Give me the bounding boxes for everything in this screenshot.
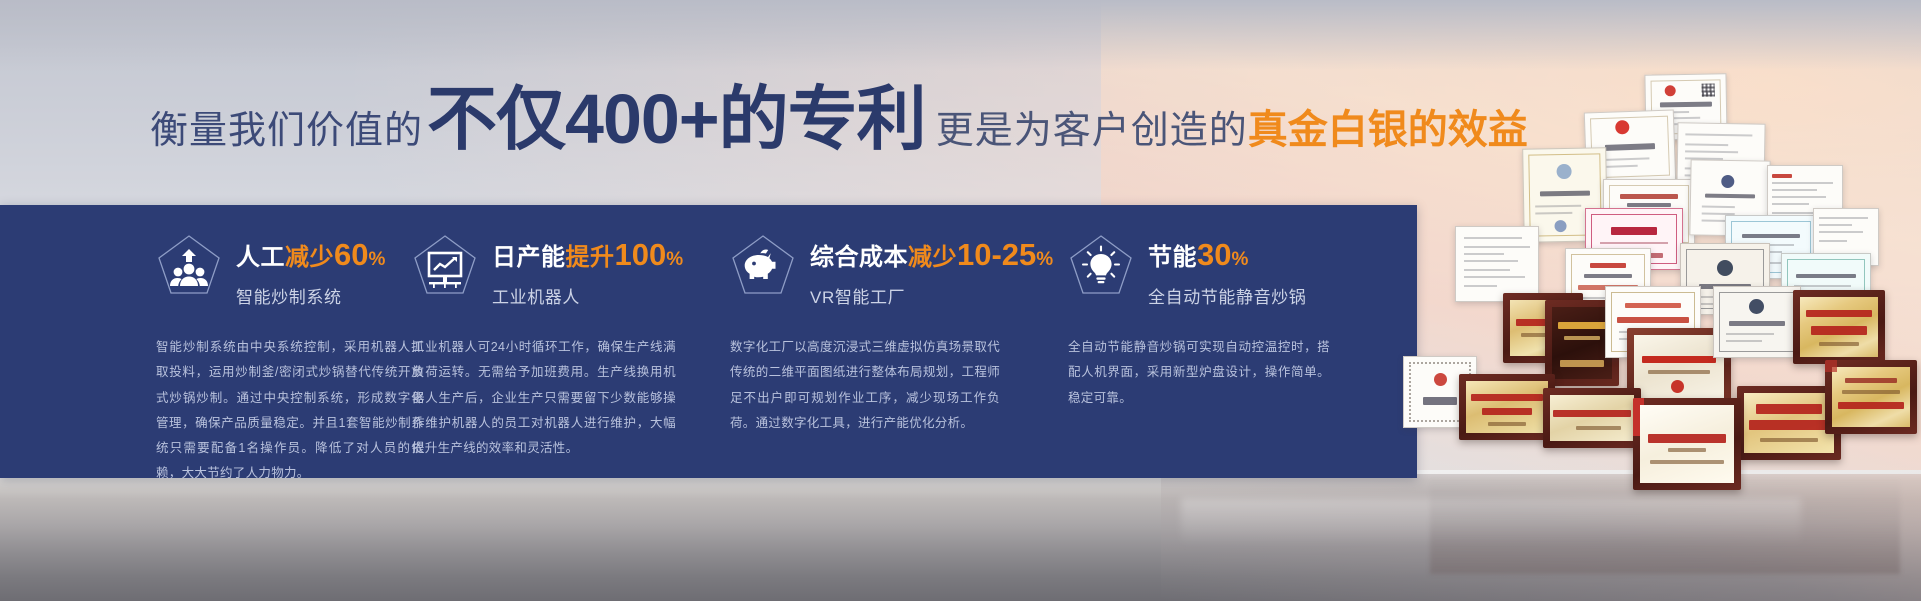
feature-value-1: 60 bbox=[334, 237, 368, 272]
features-panel: 人工减少60% 智能炒制系统 智能炒制系统由中央系统控制，采用机器人抓取投料，运… bbox=[0, 205, 1417, 478]
feature-subtitle-1: 智能炒制系统 bbox=[236, 283, 385, 308]
feature-subtitle-3: VR智能工厂 bbox=[810, 283, 1053, 308]
feature-title-accent-2: 提升 bbox=[566, 244, 615, 271]
feature-card-3: 综合成本减少10-25% VR智能工厂 数字化工厂以高度沉浸式三维虚拟仿真场景取… bbox=[720, 205, 1050, 478]
feature-value-3: 10-25 bbox=[957, 237, 1036, 272]
headline: 衡量我们价值的 不仅400+的专利 更是为客户创造的 真金白银的效益 bbox=[150, 84, 1528, 155]
feature-value-2: 100 bbox=[615, 237, 667, 272]
feature-card-1: 人工减少60% 智能炒制系统 智能炒制系统由中央系统控制，采用机器人抓取投料，运… bbox=[0, 205, 400, 478]
feature-title-accent-1: 减少 bbox=[285, 244, 334, 271]
feature-titles-2: 日产能提升100% 工业机器人 bbox=[492, 235, 683, 308]
feature-unit-2: % bbox=[666, 249, 683, 270]
feature-unit-4: % bbox=[1231, 249, 1248, 270]
light-bulb-icon bbox=[1068, 233, 1134, 297]
feature-body-1: 智能炒制系统由中央系统控制，采用机器人抓取投料，运用炒制釜/密闭式炒锅替代传统开… bbox=[156, 335, 424, 487]
people-group-icon bbox=[156, 233, 222, 297]
chart-board-icon bbox=[412, 233, 478, 297]
feature-title-plain-3: 综合成本 bbox=[810, 244, 908, 271]
feature-body-4: 全自动节能静音炒锅可实现自动控温控时，搭配人机界面，采用新型炉盘设计，操作简单。… bbox=[1068, 335, 1330, 411]
certificate-reflection bbox=[1430, 478, 1900, 574]
certificate-wall bbox=[1395, 38, 1921, 498]
feature-value-4: 30 bbox=[1197, 237, 1231, 272]
award-plaque bbox=[1825, 360, 1917, 434]
headline-lead: 衡量我们价值的 bbox=[150, 99, 423, 154]
feature-titles-4: 节能30% 全自动节能静音炒锅 bbox=[1148, 235, 1306, 308]
feature-title-plain-1: 人工 bbox=[236, 244, 285, 271]
feature-title-accent-3: 减少 bbox=[908, 244, 957, 271]
feature-titles-1: 人工减少60% 智能炒制系统 bbox=[236, 235, 385, 308]
award-plaque bbox=[1459, 374, 1555, 440]
award-plaque bbox=[1793, 290, 1885, 364]
headline-emphasis: 不仅400+的专利 bbox=[427, 84, 926, 154]
feature-card-2: 日产能提升100% 工业机器人 工业机器人可24小时循环工作，确保生产线满负荷运… bbox=[400, 205, 720, 478]
piggy-bank-icon bbox=[730, 233, 796, 297]
feature-unit-1: % bbox=[368, 249, 385, 270]
feature-subtitle-4: 全自动节能静音炒锅 bbox=[1148, 283, 1306, 308]
feature-card-4: 节能30% 全自动节能静音炒锅 全自动节能静音炒锅可实现自动控温控时，搭配人机界… bbox=[1050, 205, 1417, 478]
promo-banner: 衡量我们价值的 不仅400+的专利 更是为客户创造的 真金白银的效益 bbox=[0, 0, 1921, 601]
headline-middle: 更是为客户创造的 bbox=[936, 99, 1248, 154]
feature-subtitle-2: 工业机器人 bbox=[492, 283, 683, 308]
award-plaque bbox=[1543, 388, 1641, 448]
feature-title-plain-2: 日产能 bbox=[492, 244, 566, 271]
award-plaque bbox=[1633, 398, 1741, 490]
feature-title-plain-4: 节能 bbox=[1148, 244, 1197, 271]
feature-titles-3: 综合成本减少10-25% VR智能工厂 bbox=[810, 235, 1053, 308]
feature-body-2: 工业机器人可24小时循环工作，确保生产线满负荷运转。无需给予加班费用。生产线换用… bbox=[412, 335, 676, 461]
certificate-item bbox=[1455, 226, 1539, 302]
certificate-item bbox=[1713, 286, 1801, 358]
feature-body-3: 数字化工厂以高度沉浸式三维虚拟仿真场景取代传统的二维平面图纸进行整体布局规划，工… bbox=[730, 335, 1000, 436]
